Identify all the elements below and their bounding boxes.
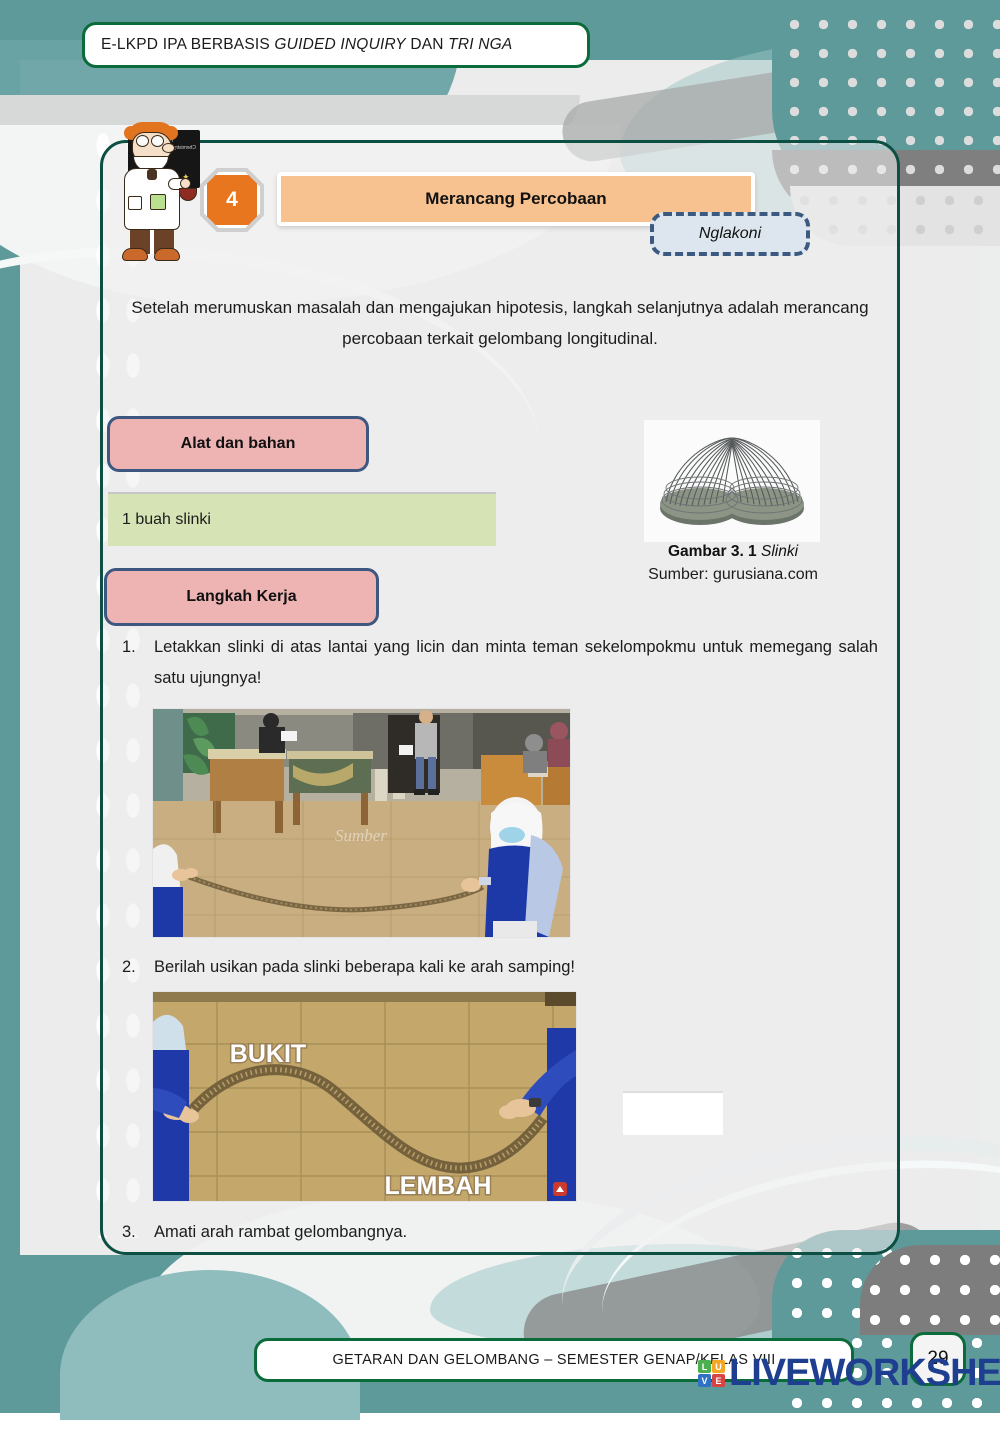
photo-slinky-wave: BUKIT LEMBAH	[153, 992, 576, 1201]
document-title-italic-2: TRI NGA	[448, 36, 512, 53]
liveworksheets-watermark: L U V E LIVEWORKSHEETS	[698, 1352, 1000, 1395]
procedure-step-2: 2. Berilah usikan pada slinki beberapa k…	[122, 952, 878, 983]
watermark-tile-row-top: L U	[698, 1360, 725, 1373]
scientist-tie	[147, 169, 157, 180]
nglakoni-label: Nglakoni	[699, 225, 761, 243]
watermark-tile-l: L	[698, 1360, 711, 1373]
watermark-tile-v: V	[698, 1374, 711, 1387]
watermark-tile-e: E	[712, 1374, 725, 1387]
step-1-number: 1.	[122, 632, 142, 695]
photo2-crest-label: BUKIT	[230, 1040, 306, 1068]
watermark-tile-u: U	[712, 1360, 725, 1373]
watermark-wordmark: LIVEWORKSHEETS	[729, 1352, 1000, 1395]
step-1-text: Letakkan slinki di atas lantai yang lici…	[154, 632, 878, 695]
scientist-shoe-left	[122, 248, 148, 261]
flask-icon	[179, 188, 197, 201]
slinki-figure-image	[644, 420, 820, 542]
svg-text:Sumber: Sumber	[335, 826, 387, 845]
photo-students-with-slinky: Sumber	[153, 709, 570, 937]
materials-label-box: Alat dan bahan	[107, 416, 369, 472]
step-3-text: Amati arah rambat gelombangnya.	[154, 1217, 407, 1248]
nglakoni-badge: Nglakoni	[650, 212, 810, 256]
scientist-nose	[162, 143, 175, 153]
materials-answer-value: 1 buah slinki	[122, 511, 211, 529]
figure-caption: Gambar 3. 1 Slinki	[600, 543, 866, 561]
scientist-mascot-icon: Hi, I am Chemistry Lesson ✦	[106, 116, 198, 268]
procedure-step-1: 1. Letakkan slinki di atas lantai yang l…	[122, 632, 878, 695]
materials-answer-input[interactable]: 1 buah slinki	[108, 492, 496, 546]
document-title-prefix: E-LKPD IPA BERBASIS	[101, 36, 274, 53]
scientist-glasses-left	[136, 135, 149, 147]
scientist-coat-pocket-green	[150, 194, 166, 210]
watermark-logo-tiles: L U V E	[698, 1360, 725, 1387]
document-title-mid: DAN	[406, 36, 448, 53]
photo2-trough-label: LEMBAH	[385, 1172, 492, 1200]
step-2-text: Berilah usikan pada slinki beberapa kali…	[154, 952, 575, 983]
document-header-bar: E-LKPD IPA BERBASIS GUIDED INQUIRY DAN T…	[82, 22, 590, 68]
figure-caption-label: Gambar 3. 1	[668, 543, 757, 560]
document-title-italic-1: GUIDED INQUIRY	[274, 36, 405, 53]
watermark-tile-row-bottom: V E	[698, 1374, 725, 1387]
procedure-label-box: Langkah Kerja	[104, 568, 379, 626]
section-title: Merancang Percobaan	[425, 189, 606, 209]
section-number-value: 4	[226, 188, 238, 212]
step-2-number: 2.	[122, 952, 142, 983]
materials-label: Alat dan bahan	[181, 435, 296, 453]
figure-caption-title: Slinki	[761, 543, 798, 560]
scientist-leg-gap	[150, 228, 154, 254]
step-3-number: 3.	[122, 1217, 142, 1248]
scientist-coat-pocket-white	[128, 196, 142, 210]
procedure-answer-input[interactable]	[623, 1091, 723, 1135]
section-number-badge: 4	[204, 172, 260, 228]
document-title: E-LKPD IPA BERBASIS GUIDED INQUIRY DAN T…	[101, 36, 512, 54]
intro-paragraph: Setelah merumuskan masalah dan mengajuka…	[130, 292, 870, 355]
procedure-step-3: 3. Amati arah rambat gelombangnya.	[122, 1217, 878, 1248]
procedure-label: Langkah Kerja	[186, 588, 296, 606]
scientist-shoe-right	[154, 248, 180, 261]
figure-source: Sumber: gurusiana.com	[600, 566, 866, 584]
